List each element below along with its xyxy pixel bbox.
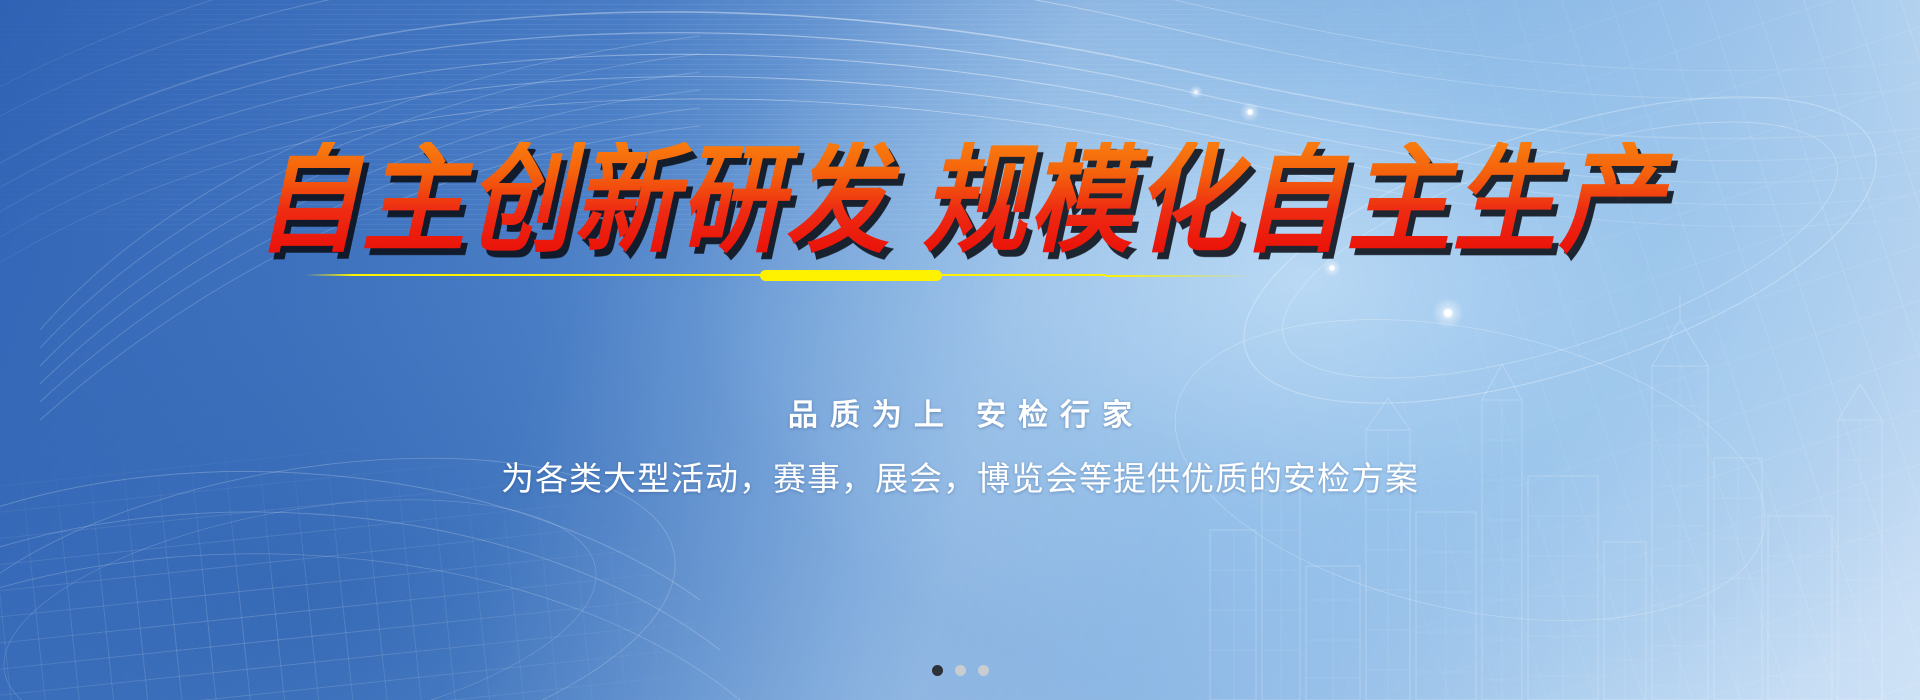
hero-banner: 自主创新研发 规模化自主生产 品质为上 安检行家 为各类大型活动，赛事，展会，博… bbox=[0, 0, 1920, 700]
divider-thin-line bbox=[305, 274, 1105, 276]
divider-thick-bar bbox=[760, 270, 942, 281]
divider-tail-line bbox=[1105, 275, 1255, 277]
banner-headline: 自主创新研发 规模化自主生产 bbox=[0, 142, 1920, 261]
carousel-dot-1[interactable] bbox=[932, 665, 943, 676]
yellow-divider bbox=[305, 273, 1105, 277]
carousel-dot-3[interactable] bbox=[978, 665, 989, 676]
banner-content: 自主创新研发 规模化自主生产 品质为上 安检行家 为各类大型活动，赛事，展会，博… bbox=[0, 0, 1920, 700]
carousel-dot-2[interactable] bbox=[955, 665, 966, 676]
carousel-indicators[interactable] bbox=[0, 665, 1920, 676]
banner-subtagline: 为各类大型活动，赛事，展会，博览会等提供优质的安检方案 bbox=[0, 452, 1920, 500]
banner-tagline: 品质为上 安检行家 bbox=[0, 390, 1920, 434]
